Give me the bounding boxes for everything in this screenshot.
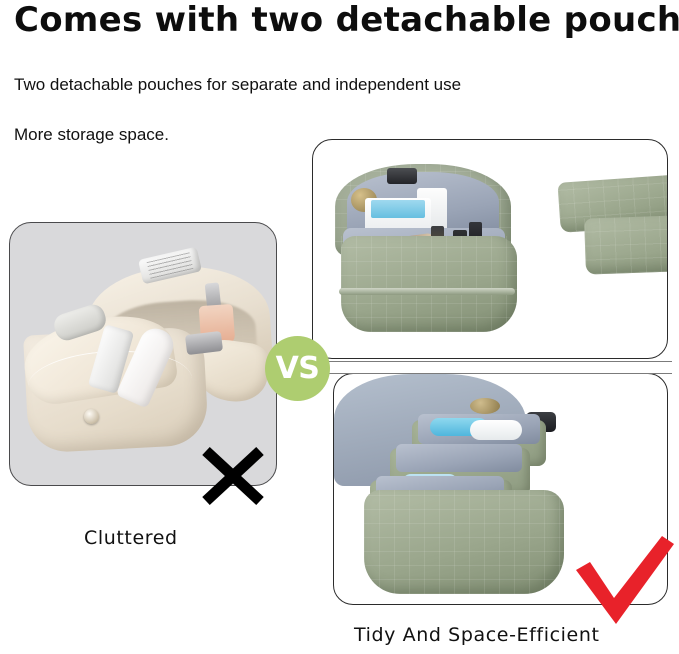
x-mark-icon [198, 441, 268, 511]
product-jar-gold [470, 398, 500, 414]
pouches-photo-panel [312, 139, 668, 359]
vs-badge: VS [265, 336, 330, 401]
caption-cluttered: Cluttered [84, 527, 178, 549]
subtitle-line-2: More storage space. [14, 124, 169, 146]
connector-line-top [322, 361, 672, 362]
compartment-liner-middle [396, 444, 522, 472]
product-case-black [387, 168, 417, 184]
page-title: Comes with two detachable pouches [14, 0, 674, 42]
sage-bag-with-pouches-illustration [313, 140, 667, 358]
vs-badge-label: VS [276, 354, 320, 384]
connector-line-bottom [322, 373, 672, 374]
bag-clasp-snap [84, 409, 99, 424]
subtitle-line-1: Two detachable pouches for separate and … [14, 74, 461, 96]
detachable-pouch-2 [584, 213, 668, 274]
product-carton-blue-label [371, 200, 425, 218]
check-mark-icon [570, 536, 675, 628]
caption-tidy-and-space-efficient: Tidy And Space-Efficient [354, 624, 600, 646]
product-bottle-white [470, 420, 522, 440]
bag-body [364, 490, 564, 594]
bag-zipper [339, 288, 515, 295]
bag-body [341, 236, 517, 332]
